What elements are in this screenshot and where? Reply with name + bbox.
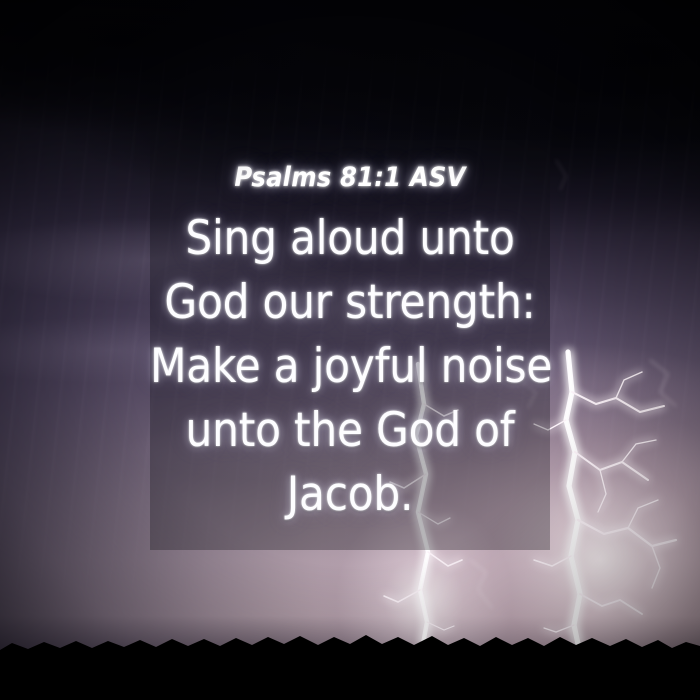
- verse-reference: Psalms 81:1 ASV: [234, 162, 465, 193]
- verse-line: unto the God of: [150, 399, 550, 463]
- verse-body: Sing aloud unto God our strength: Make a…: [150, 207, 550, 527]
- verse-line: God our strength:: [150, 271, 550, 335]
- verse-line: Jacob.: [150, 463, 550, 527]
- verse-image-canvas: Psalms 81:1 ASV Sing aloud unto God our …: [0, 0, 700, 700]
- right-bolt: [534, 352, 676, 644]
- verse-line: Sing aloud unto: [150, 207, 550, 271]
- verse-line: Make a joyful noise: [150, 335, 550, 399]
- verse-text-panel: Psalms 81:1 ASV Sing aloud unto God our …: [150, 140, 550, 550]
- ground-mass: [0, 655, 700, 700]
